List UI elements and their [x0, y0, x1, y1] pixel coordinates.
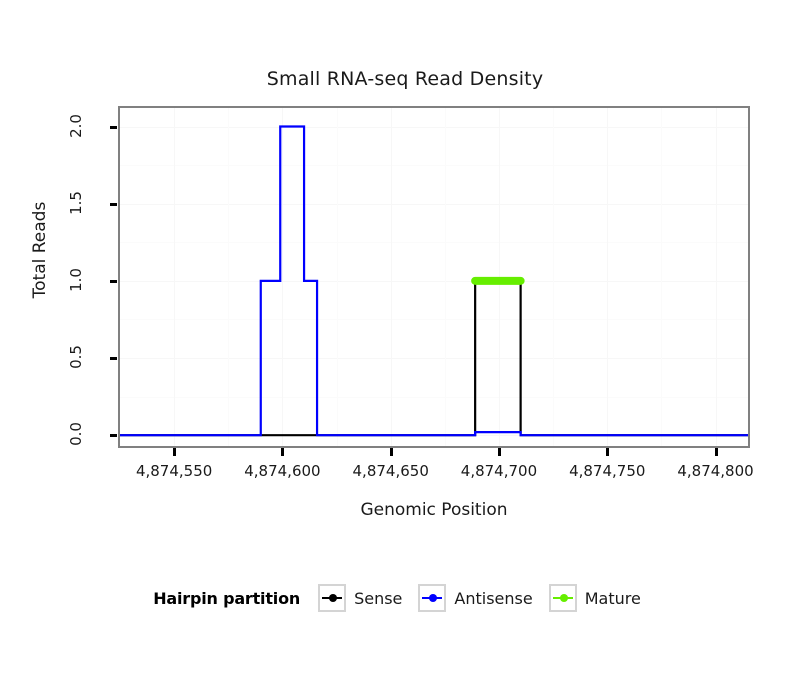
- legend-label: Sense: [354, 589, 402, 608]
- data-series-layer: [120, 108, 748, 446]
- y-tick-mark: [110, 126, 117, 129]
- legend-key-icon: [318, 584, 346, 612]
- y-tick-label: 1.5: [54, 194, 98, 212]
- x-tick-mark: [498, 448, 501, 456]
- legend-key-dot-icon: [329, 594, 337, 602]
- x-tick-mark: [715, 448, 718, 456]
- legend-item-sense[interactable]: Sense: [318, 584, 402, 612]
- y-tick-label: 0.5: [54, 348, 98, 366]
- y-tick-mark: [110, 434, 117, 437]
- legend-item-antisense[interactable]: Antisense: [418, 584, 532, 612]
- legend-label: Antisense: [454, 589, 532, 608]
- legend-key-dot-icon: [560, 594, 568, 602]
- series-line-antisense: [120, 127, 748, 436]
- legend-item-mature[interactable]: Mature: [549, 584, 641, 612]
- y-tick-mark: [110, 280, 117, 283]
- y-tick-label: 2.0: [54, 117, 98, 135]
- legend-key-dot-icon: [429, 594, 437, 602]
- x-tick-label: 4,874,800: [651, 462, 781, 480]
- x-tick-mark: [173, 448, 176, 456]
- legend-items: SenseAntisenseMature: [318, 584, 657, 612]
- y-tick-mark: [110, 357, 117, 360]
- plot-panel: [118, 106, 750, 448]
- y-tick-label: 0.0: [54, 425, 98, 443]
- chart-title: Small RNA-seq Read Density: [0, 68, 810, 90]
- x-tick-mark: [281, 448, 284, 456]
- legend-label: Mature: [585, 589, 641, 608]
- x-tick-mark: [606, 448, 609, 456]
- legend-key-icon: [549, 584, 577, 612]
- y-tick-label: 1.0: [54, 271, 98, 289]
- y-axis-label: Total Reads: [30, 150, 50, 350]
- x-axis-label: Genomic Position: [118, 500, 750, 520]
- series-line-sense: [120, 281, 748, 435]
- x-tick-mark: [390, 448, 393, 456]
- plot-area: [120, 108, 748, 446]
- legend-key-icon: [418, 584, 446, 612]
- chart-figure: Small RNA-seq Read Density Total Reads 0…: [0, 0, 810, 690]
- chart-legend: Hairpin partition SenseAntisenseMature: [0, 584, 810, 612]
- y-tick-mark: [110, 203, 117, 206]
- legend-title: Hairpin partition: [153, 589, 300, 608]
